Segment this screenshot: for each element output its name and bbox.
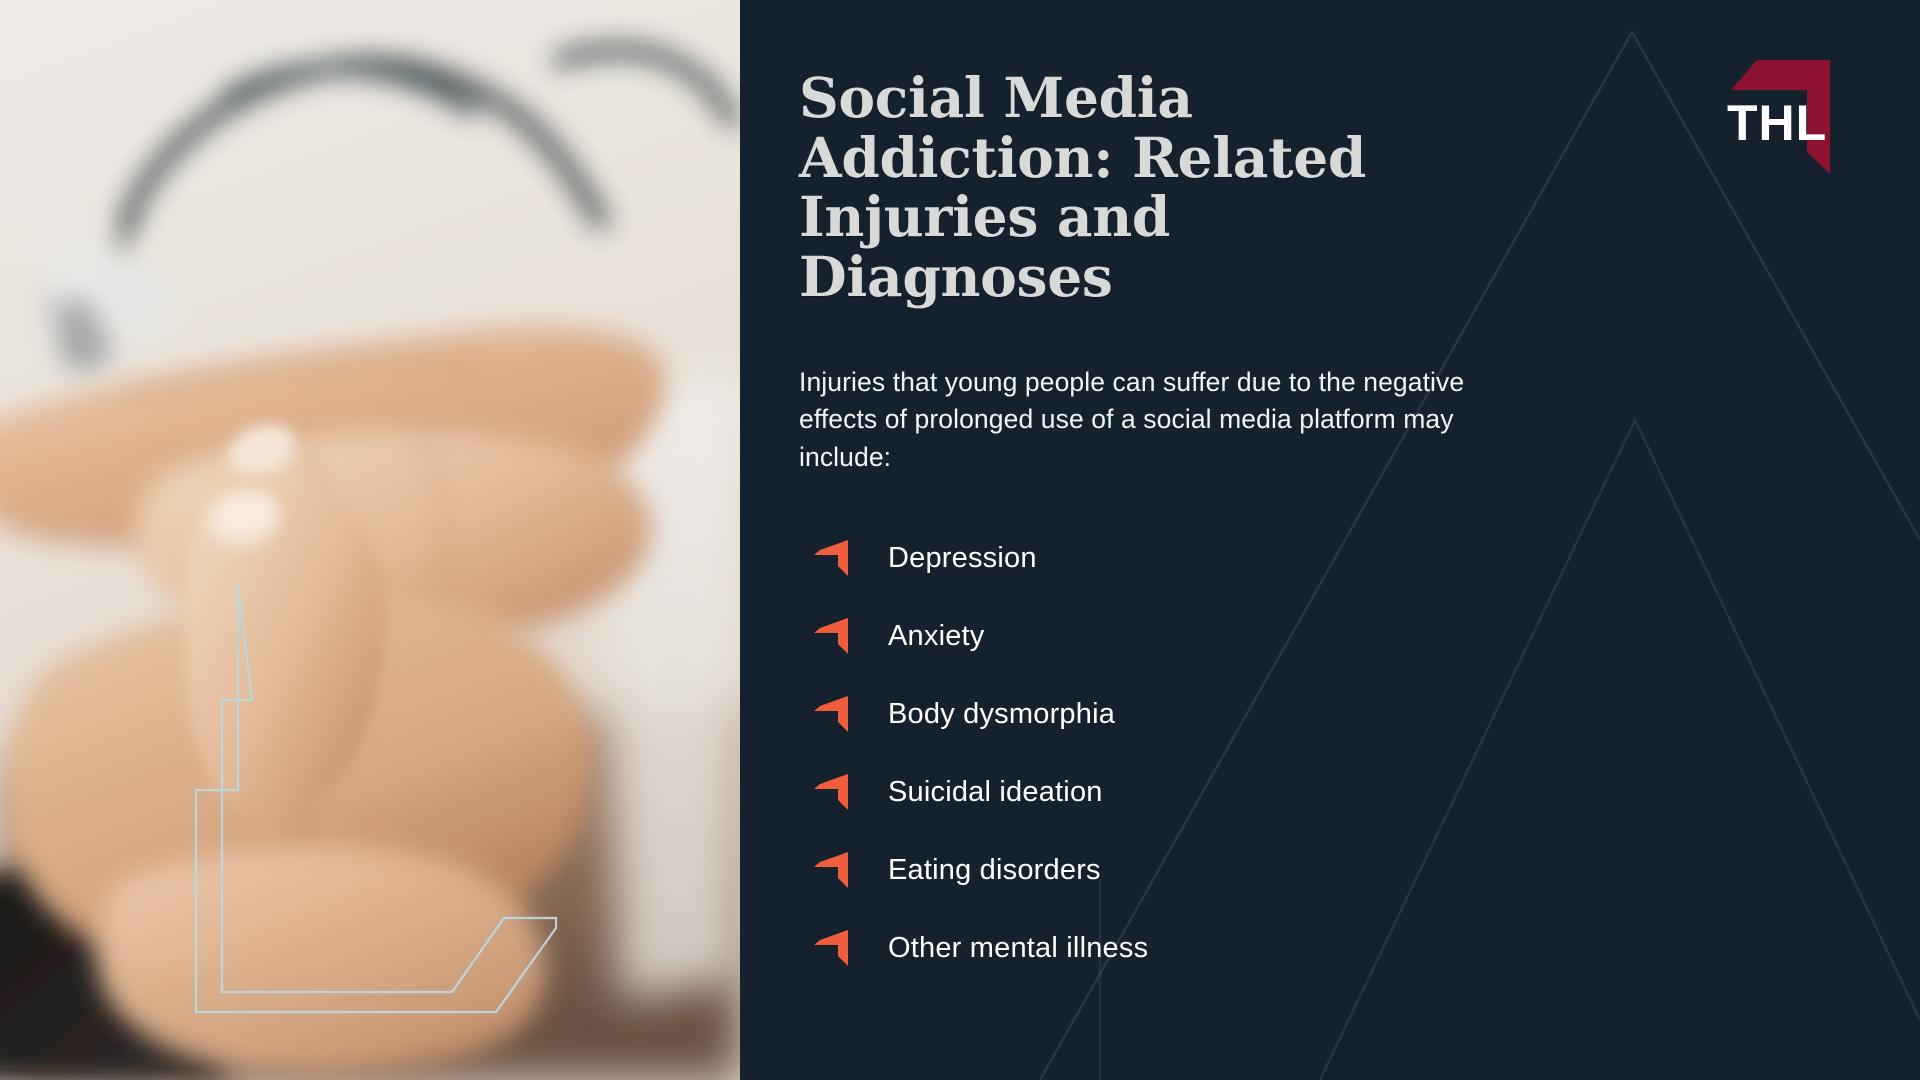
photo-image (0, 0, 740, 1080)
list-item-label: Anxiety (888, 620, 985, 653)
arrow-corner-icon (812, 614, 854, 656)
list-item-label: Other mental illness (888, 932, 1148, 965)
list-item-label: Eating disorders (888, 854, 1101, 887)
page-title: Social Media Addiction: Related Injuries… (799, 68, 1439, 307)
arrow-corner-icon (812, 848, 854, 890)
list-item: Body dysmorphia (799, 676, 1920, 754)
intro-paragraph: Injuries that young people can suffer du… (799, 364, 1509, 477)
list-item: Other mental illness (799, 910, 1920, 988)
content-panel: THL Social Media Addiction: Related Inju… (740, 0, 1920, 1080)
arrow-corner-icon (812, 692, 854, 734)
logo-wordmark: THL (1727, 95, 1827, 151)
list-item-label: Body dysmorphia (888, 698, 1115, 731)
photo-panel (0, 0, 740, 1080)
arrow-corner-icon (812, 536, 854, 578)
list-item: Depression (799, 520, 1920, 598)
list-item: Suicidal ideation (799, 754, 1920, 832)
list-item: Eating disorders (799, 832, 1920, 910)
arrow-corner-icon (812, 770, 854, 812)
injury-list: Depression Anxiety (799, 520, 1920, 988)
list-item: Anxiety (799, 598, 1920, 676)
slide-root: THL Social Media Addiction: Related Inju… (0, 0, 1920, 1080)
list-item-label: Suicidal ideation (888, 776, 1103, 809)
arrow-corner-icon (812, 926, 854, 968)
list-item-label: Depression (888, 542, 1037, 575)
thl-logo[interactable]: THL (1717, 42, 1842, 182)
